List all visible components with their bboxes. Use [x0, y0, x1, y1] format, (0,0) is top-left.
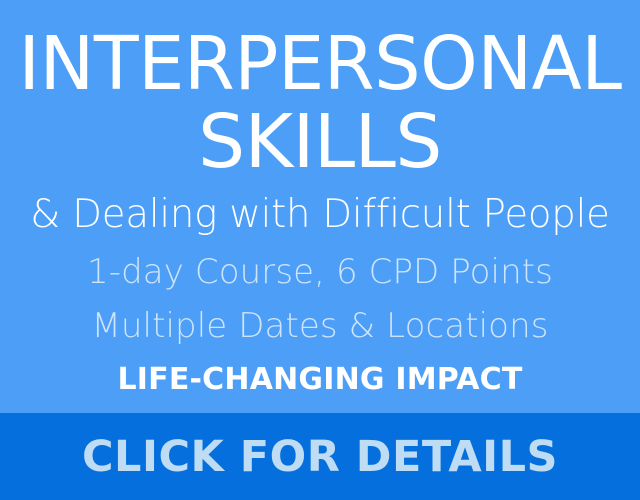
course-advertisement-banner[interactable]: INTERPERSONAL SKILLS & Dealing with Diff… — [0, 0, 640, 500]
cta-bar[interactable]: CLICK FOR DETAILS — [0, 413, 640, 500]
detail-line-course-duration: 1-day Course, 6 CPD Points — [0, 252, 640, 292]
impact-statement: LIFE-CHANGING IMPACT — [0, 362, 640, 398]
cta-label: CLICK FOR DETAILS — [82, 433, 558, 481]
headline-line-2: SKILLS — [0, 106, 640, 178]
detail-line-dates-locations: Multiple Dates & Locations — [0, 306, 640, 346]
headline-line-1: INTERPERSONAL — [3, 28, 637, 100]
ad-content-area: INTERPERSONAL SKILLS & Dealing with Diff… — [0, 0, 640, 413]
subheadline: & Dealing with Difficult People — [3, 192, 637, 238]
